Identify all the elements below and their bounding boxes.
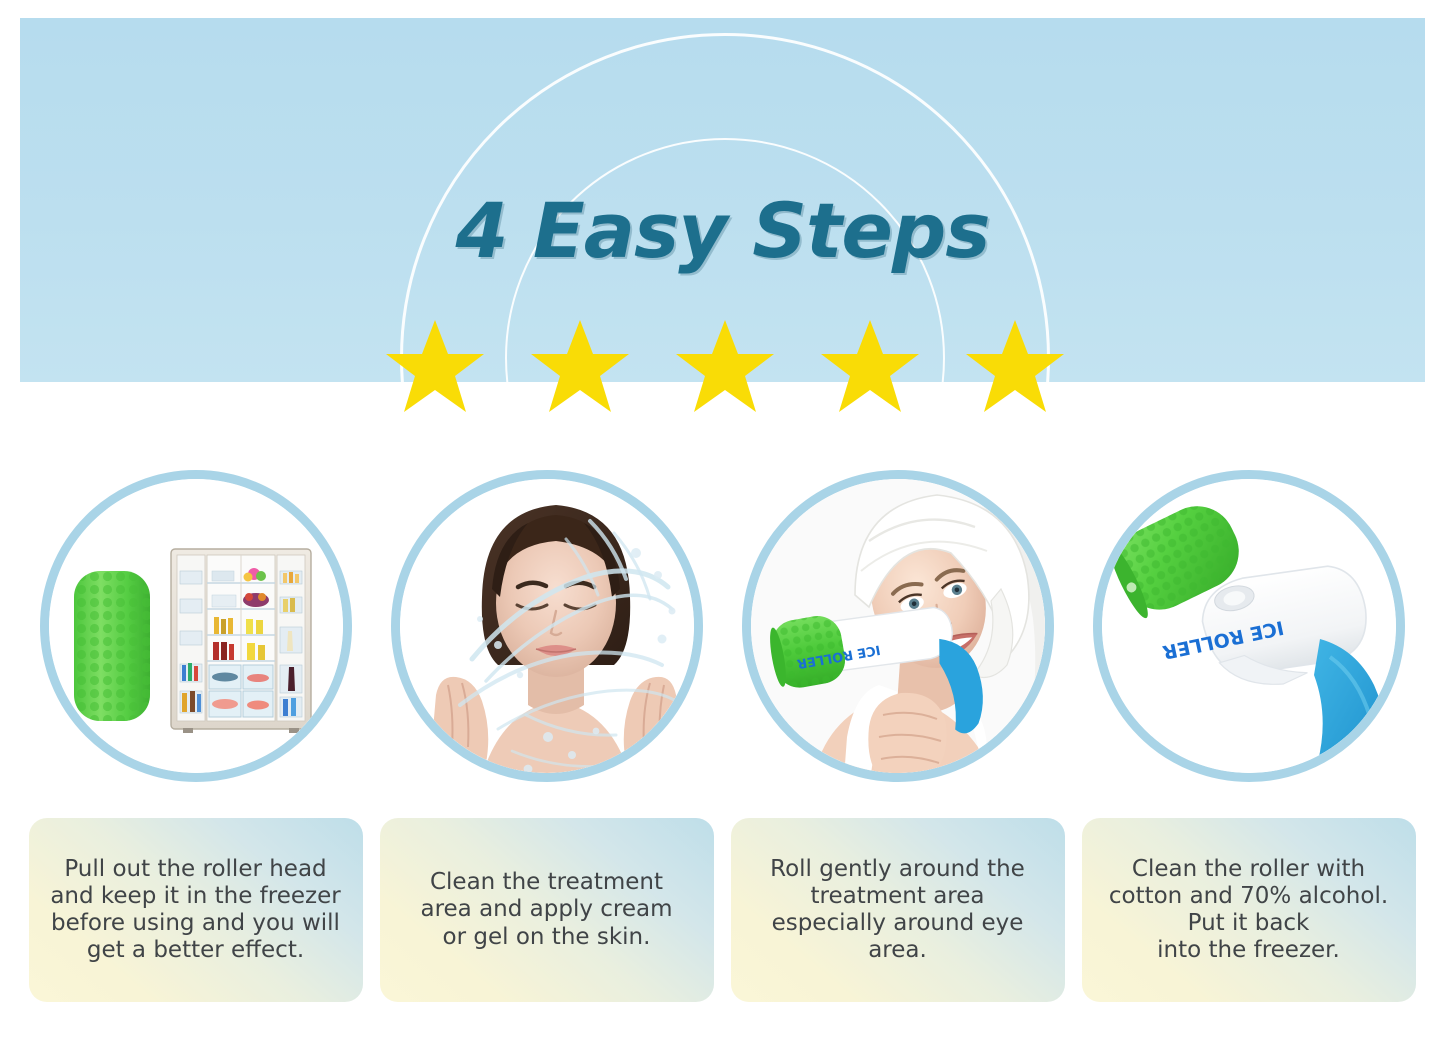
step-2-caption-card: Clean the treatment area and apply cream…	[380, 818, 714, 1002]
step-4-photo-cell: ICE ROLLER	[1073, 470, 1424, 810]
step-photo-row: ICE ROLLER	[20, 470, 1425, 810]
step-1-photo-cell	[20, 470, 371, 810]
star-icon	[385, 318, 485, 414]
star-icon	[530, 318, 630, 414]
step-2-photo-cell	[371, 470, 722, 810]
step-2-caption-cell: Clean the treatment area and apply cream…	[371, 818, 722, 1008]
step-2-photo-circle	[391, 470, 703, 782]
woman-washing-face-photo	[400, 479, 694, 773]
step-caption-row: Pull out the roller head and keep it in …	[20, 818, 1425, 1008]
step-1-photo-circle	[40, 470, 352, 782]
step-3-photo-circle: ICE ROLLER	[742, 470, 1054, 782]
step-3-caption-card: Roll gently around the treatment area es…	[731, 818, 1065, 1002]
step-3-caption-cell: Roll gently around the treatment area es…	[722, 818, 1073, 1008]
star-icon	[965, 318, 1065, 414]
step-4-photo-circle: ICE ROLLER	[1093, 470, 1405, 782]
step-1-caption-text: Pull out the roller head and keep it in …	[50, 856, 340, 965]
step-3-caption-text: Roll gently around the treatment area es…	[770, 856, 1025, 965]
step-2-caption-text: Clean the treatment area and apply cream…	[420, 869, 672, 950]
star-icon	[675, 318, 775, 414]
infographic-page: 4 Easy Steps	[0, 0, 1445, 1039]
woman-using-ice-roller-photo: ICE ROLLER	[751, 479, 1045, 773]
step-4-caption-cell: Clean the roller with cotton and 70% alc…	[1073, 818, 1424, 1008]
step-3-photo-cell: ICE ROLLER	[722, 470, 1073, 810]
star-icon	[820, 318, 920, 414]
step-4-caption-card: Clean the roller with cotton and 70% alc…	[1082, 818, 1416, 1002]
page-title: 4 Easy Steps	[20, 186, 1425, 275]
star-rating	[385, 318, 1065, 428]
ice-roller-product-photo: ICE ROLLER	[1102, 479, 1396, 773]
step-4-caption-text: Clean the roller with cotton and 70% alc…	[1109, 856, 1388, 965]
step-1-caption-cell: Pull out the roller head and keep it in …	[20, 818, 371, 1008]
step-1-caption-card: Pull out the roller head and keep it in …	[29, 818, 363, 1002]
roller-head-and-freezer-photo	[49, 479, 343, 773]
